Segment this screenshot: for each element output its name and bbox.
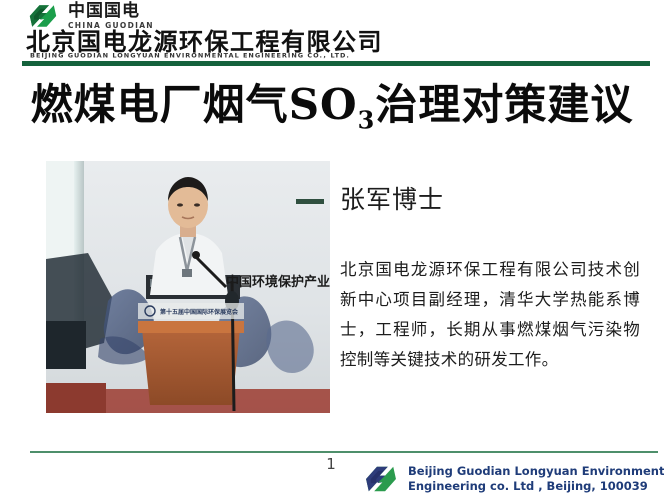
photo-banner-text: 第十五届中国国际环保展览会 xyxy=(159,308,239,316)
title-part-2: 治理对策建议 xyxy=(375,80,633,129)
slide-header: 中国国电 CHINA GUODIAN 北京国电龙源环保工程有限公司 BEIJIN… xyxy=(0,0,664,62)
footer-line-1: Beijing Guodian Longyuan Environmental xyxy=(408,464,664,479)
page-number: 1 xyxy=(320,455,342,473)
title-formula-subscript: 3 xyxy=(358,105,376,134)
slide-title: 燃煤电厂烟气SO3治理对策建议 xyxy=(0,80,664,145)
brand-name-cn: 中国国电 xyxy=(68,2,140,20)
title-part-1: 燃煤电厂烟气 xyxy=(31,80,289,129)
speaker-name: 张军博士 xyxy=(340,180,444,216)
footer-line-2: Engineering co. Ltd , Beijing, 100039 xyxy=(408,479,664,494)
speaker-biography: 北京国电龙源环保工程有限公司技术创新中心项目副经理，清华大学热能系博士，工程师，… xyxy=(340,255,640,375)
slide-root: 中国国电 CHINA GUODIAN 北京国电龙源环保工程有限公司 BEIJIN… xyxy=(0,0,664,502)
china-guodian-logo-icon xyxy=(26,1,60,31)
footer-guodian-logo-icon xyxy=(362,462,400,496)
photo-backdrop-text: 中国环境保护产业协会 xyxy=(226,274,330,290)
speaker-photo: 中国环境保护产业协会 第十五届中国国际环保展览会 xyxy=(46,161,330,413)
footer-company-address: Beijing Guodian Longyuan Environmental E… xyxy=(408,464,664,494)
title-formula-so: SO xyxy=(289,80,358,129)
header-divider xyxy=(22,61,650,66)
company-name-en: BEIJING GUODIAN LONGYUAN ENVIRONMENTAL E… xyxy=(30,50,350,60)
footer-divider xyxy=(30,451,658,453)
